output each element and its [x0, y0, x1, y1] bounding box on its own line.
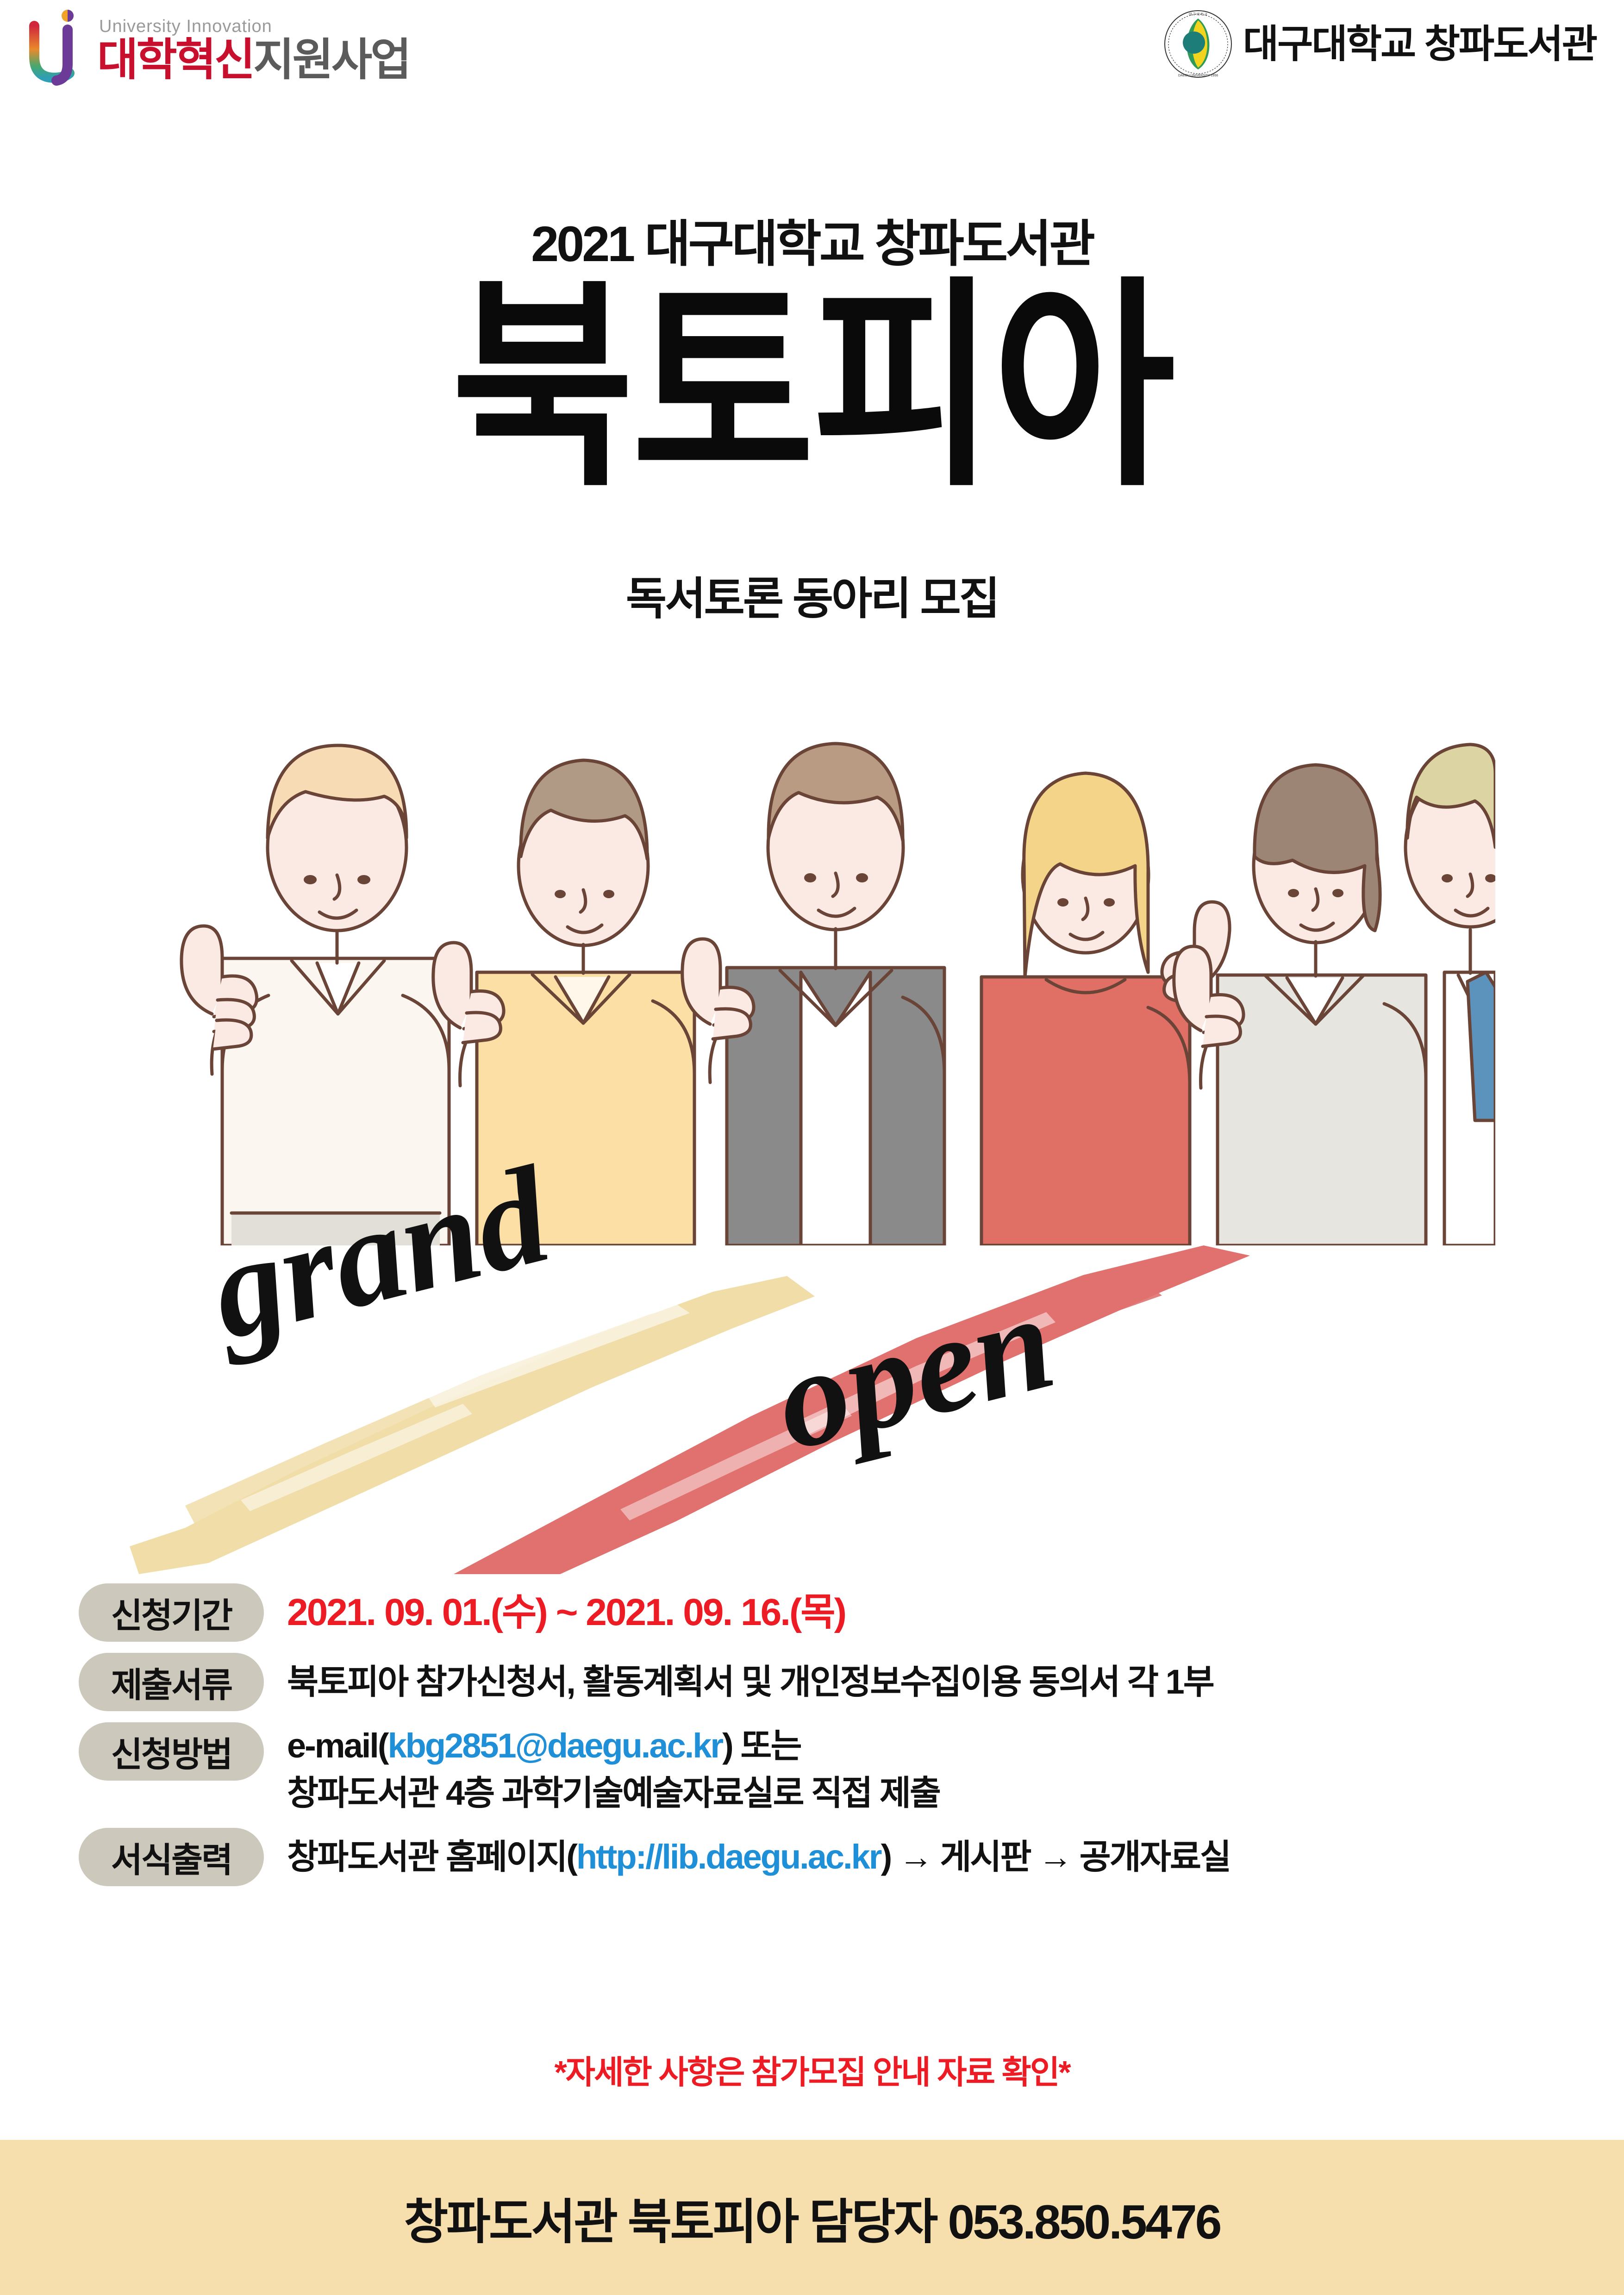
forms-prefix-text: 창파도서관 홈페이지(	[287, 1833, 576, 1881]
page-title: 북토피아	[0, 271, 1624, 505]
info-label-period: 신청기간	[79, 1583, 264, 1642]
info-value-documents: 북토피아 참가신청서, 활동계획서 및 개인정보수집이용 동의서 각 1부	[264, 1653, 1213, 1711]
ui-logo-korean-gray: 지원사업	[253, 35, 409, 85]
people-thumbs-up-illustration	[153, 607, 1495, 1245]
info-label-documents: 제출서류	[79, 1653, 264, 1711]
footer-contact-text: 창파도서관 북토피아 담당자 053.850.5476	[404, 2182, 1220, 2252]
detail-note: *자세한 사항은 참가모집 안내 자료 확인*	[0, 2046, 1624, 2093]
info-row-forms: 서식출력 창파도서관 홈페이지(http://lib.daegu.ac.kr) …	[79, 1828, 1574, 1886]
info-label-forms: 서식출력	[79, 1828, 264, 1886]
info-value-method: e-mail(kbg2851@daegu.ac.kr) 또는 창파도서관 4층 …	[264, 1722, 940, 1817]
info-row-period: 신청기간 2021. 09. 01.(수) ~ 2021. 09. 16.(목)	[79, 1583, 1574, 1642]
ui-logo-korean: 대학혁신지원사업	[97, 38, 410, 82]
info-value-period: 2021. 09. 01.(수) ~ 2021. 09. 16.(목)	[264, 1583, 845, 1642]
info-method-line1: e-mail(kbg2851@daegu.ac.kr) 또는	[287, 1722, 940, 1770]
forms-suffix-text: ) → 게시판 → 공개자료실	[881, 1833, 1230, 1881]
footer-bar: 창파도서관 북토피아 담당자 053.850.5476	[0, 2140, 1624, 2295]
info-row-method: 신청방법 e-mail(kbg2851@daegu.ac.kr) 또는 창파도서…	[79, 1722, 1574, 1817]
info-table: 신청기간 2021. 09. 01.(수) ~ 2021. 09. 16.(목)…	[79, 1583, 1574, 1897]
email-prefix-text: e-mail(	[287, 1726, 388, 1765]
svg-text:DAEGU UNIVERSITY 1956: DAEGU UNIVERSITY 1956	[1178, 74, 1218, 77]
info-label-method: 신청방법	[79, 1722, 264, 1781]
homepage-link[interactable]: http://lib.daegu.ac.kr	[576, 1833, 881, 1881]
daegu-university-seal-icon: 대 구 대 학 교 DAEGU UNIVERSITY 1956	[1163, 9, 1233, 79]
uj-logo-mark-icon	[28, 8, 89, 92]
ui-logo-korean-red: 대학혁신	[97, 35, 253, 85]
email-link[interactable]: kbg2851@daegu.ac.kr	[388, 1726, 723, 1765]
poster-canvas: University Innovation 대학혁신지원사업 대 구 대 학 교…	[0, 0, 1624, 2295]
svg-text:대 구 대 학 교: 대 구 대 학 교	[1189, 12, 1208, 16]
library-logo: 대 구 대 학 교 DAEGU UNIVERSITY 1956 대구대학교 창파…	[1163, 9, 1596, 79]
info-value-forms: 창파도서관 홈페이지(http://lib.daegu.ac.kr) → 게시판…	[264, 1828, 1230, 1886]
email-suffix-text: ) 또는	[722, 1726, 800, 1765]
ui-logo-english: University Innovation	[99, 18, 410, 35]
info-method-line2: 창파도서관 4층 과학기술예술자료실로 직접 제출	[287, 1770, 940, 1817]
ui-logo-wordmark: University Innovation 대학혁신지원사업	[97, 18, 410, 82]
info-row-documents: 제출서류 북토피아 참가신청서, 활동계획서 및 개인정보수집이용 동의서 각 …	[79, 1653, 1574, 1711]
university-innovation-logo: University Innovation 대학혁신지원사업	[28, 8, 410, 92]
library-logo-name: 대구대학교 창파도서관	[1243, 25, 1596, 63]
